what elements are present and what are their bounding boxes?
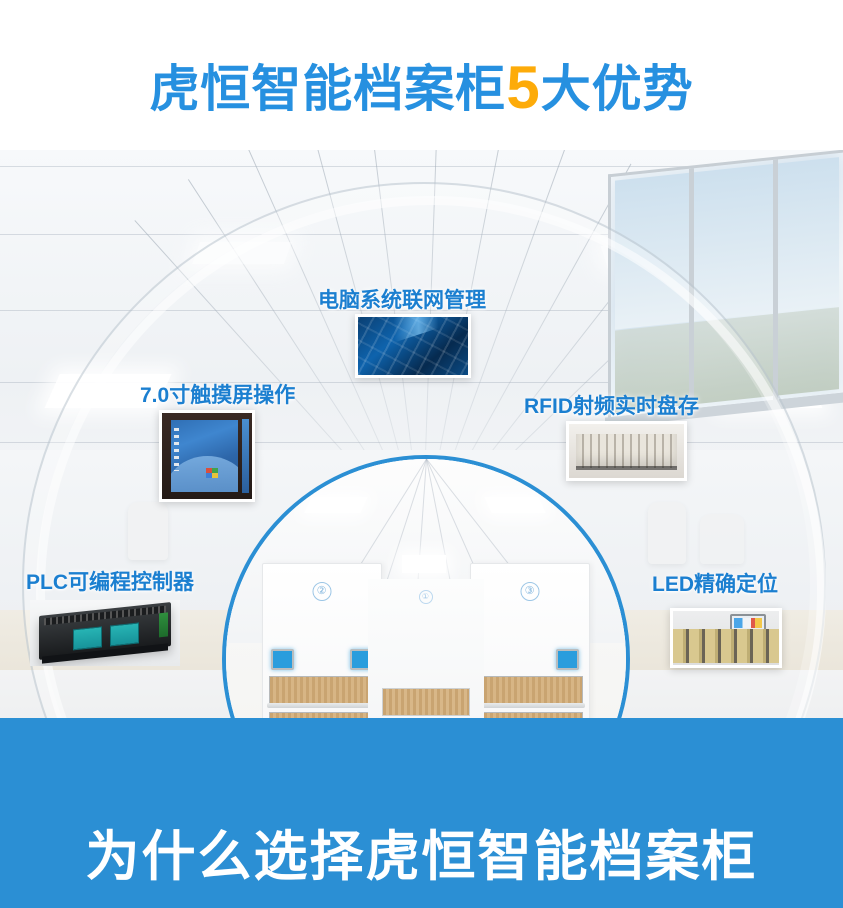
feature-label-led: LED精确定位 [652, 568, 778, 598]
title-highlight-number: 5 [506, 54, 540, 121]
feature-label-rfid: RFID射频实时盘存 [524, 390, 699, 420]
office-chair-right [648, 502, 686, 564]
feature-label-plc: PLC可编程控制器 [26, 566, 194, 596]
feature-label-computer-network: 电脑系统联网管理 [318, 284, 486, 314]
page-title: 虎恒智能档案柜5大优势 [0, 52, 843, 132]
keyboard-thumbnail [355, 314, 471, 378]
plc-module-thumbnail [30, 600, 180, 666]
cabinet-number-right: ③ [520, 582, 539, 601]
led-rack-thumbnail [670, 608, 782, 668]
banner-text: 为什么选择虎恒智能档案柜 [0, 824, 843, 890]
office-window [608, 150, 843, 420]
title-suffix: 大优势 [541, 61, 694, 117]
title-text: 虎恒智能档案柜5大优势 [149, 52, 693, 125]
promo-page: 虎恒智能档案柜5大优势 [0, 0, 843, 908]
touch-panel-thumbnail [159, 410, 255, 502]
cabinet-number-far: ① [419, 590, 433, 604]
office-chair-left [128, 502, 168, 560]
cabinet-number-left: ② [312, 582, 331, 601]
title-prefix: 虎恒智能档案柜 [149, 61, 506, 117]
rfid-rack-thumbnail [566, 421, 687, 481]
bottom-banner: 为什么选择虎恒智能档案柜 [0, 718, 843, 908]
feature-label-touchscreen: 7.0寸触摸屏操作 [140, 379, 295, 409]
office-chair-far-right [700, 514, 744, 564]
